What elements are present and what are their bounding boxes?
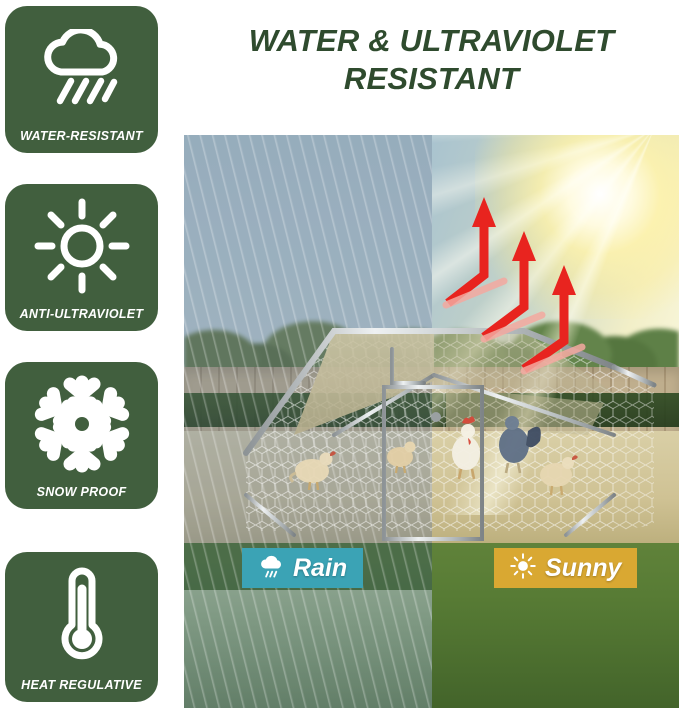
feature-badge-snow-proof: SNOW PROOF: [5, 362, 158, 509]
feature-label: WATER-RESISTANT: [20, 130, 143, 154]
sun-icon: [510, 553, 536, 584]
sun-flare: [475, 135, 679, 319]
photo-half-sunny: [432, 135, 679, 708]
weather-chip-rain: Rain: [242, 548, 363, 588]
snowflake-icon: [5, 362, 158, 486]
weather-chip-label: Rain: [293, 556, 347, 581]
weather-chip-sunny: Sunny: [494, 548, 637, 588]
sun-icon: [5, 184, 158, 308]
coop-floor: [184, 431, 432, 543]
feature-badge-rail: WATER-RESISTANT ANTI-ULTRAVIOLET: [0, 0, 170, 708]
thermometer-icon: [5, 552, 158, 679]
hedge-strip: [184, 393, 432, 427]
page-title: WATER & ULTRAVIOLET RESISTANT: [184, 22, 679, 98]
coop-floor: [432, 431, 679, 543]
rain-cloud-icon: [5, 6, 158, 130]
feature-badge-water-resistant: WATER-RESISTANT: [5, 6, 158, 153]
feature-badge-anti-ultraviolet: ANTI-ULTRAVIOLET: [5, 184, 158, 331]
feature-badge-heat-regulative: HEAT REGULATIVE: [5, 552, 158, 702]
hedge-strip: [432, 393, 679, 427]
feature-label: SNOW PROOF: [37, 486, 127, 510]
feature-label: ANTI-ULTRAVIOLET: [20, 308, 144, 332]
weather-chip-label: Sunny: [545, 556, 621, 581]
product-photo: Rain Sunny: [184, 135, 679, 708]
photo-half-rain: [184, 135, 432, 708]
feature-label: HEAT REGULATIVE: [21, 679, 142, 703]
rain-cloud-icon: [258, 553, 284, 584]
